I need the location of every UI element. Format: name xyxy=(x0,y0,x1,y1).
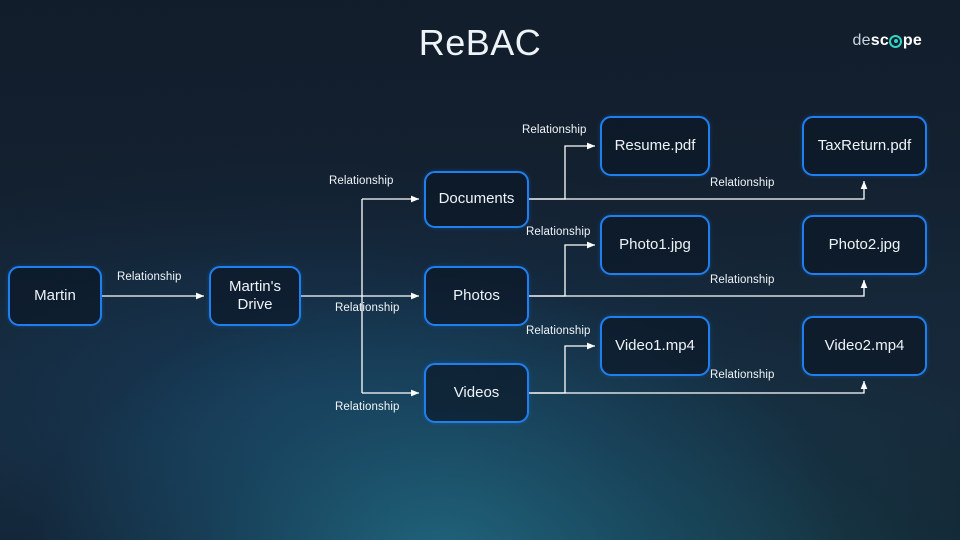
page-title: ReBAC xyxy=(0,22,960,64)
edge-photos-photo2 xyxy=(529,280,864,296)
edge-label-martin-drive: Relationship xyxy=(117,271,182,283)
edge-label-documents-resume: Relationship xyxy=(522,124,587,136)
edge-videos-video2 xyxy=(529,381,864,393)
edge-label-documents-taxreturn: Relationship xyxy=(710,177,775,189)
node-video1-mp4[interactable]: Video1.mp4 xyxy=(600,316,710,376)
edge-photos-photo1 xyxy=(529,245,595,296)
node-documents[interactable]: Documents xyxy=(424,171,529,228)
circle-dot-icon xyxy=(889,35,902,48)
node-taxreturn-pdf[interactable]: TaxReturn.pdf xyxy=(802,116,927,176)
node-photo2-jpg[interactable]: Photo2.jpg xyxy=(802,215,927,275)
edge-label-drive-videos: Relationship xyxy=(335,401,400,413)
logo-text-de: de xyxy=(853,33,871,49)
logo-text-pe: pe xyxy=(903,33,922,49)
descope-logo: de sc pe xyxy=(853,33,922,49)
edge-label-videos-video2: Relationship xyxy=(710,369,775,381)
edge-label-photos-photo1: Relationship xyxy=(526,226,591,238)
edge-label-photos-photo2: Relationship xyxy=(710,274,775,286)
node-videos[interactable]: Videos xyxy=(424,363,529,423)
node-martin[interactable]: Martin xyxy=(8,266,102,326)
edge-documents-taxreturn xyxy=(529,181,864,199)
edge-label-drive-photos: Relationship xyxy=(335,302,400,314)
node-martins-drive[interactable]: Martin's Drive xyxy=(209,266,301,326)
edge-label-drive-documents: Relationship xyxy=(329,175,394,187)
edge-videos-video1 xyxy=(529,346,595,393)
logo-text-sc: sc xyxy=(871,33,889,49)
node-photos[interactable]: Photos xyxy=(424,266,529,326)
node-video2-mp4[interactable]: Video2.mp4 xyxy=(802,316,927,376)
node-photo1-jpg[interactable]: Photo1.jpg xyxy=(600,215,710,275)
slide-canvas: ReBAC de sc pe M xyxy=(0,0,960,540)
edge-documents-resume xyxy=(529,146,595,199)
node-resume-pdf[interactable]: Resume.pdf xyxy=(600,116,710,176)
edge-label-videos-video1: Relationship xyxy=(526,325,591,337)
